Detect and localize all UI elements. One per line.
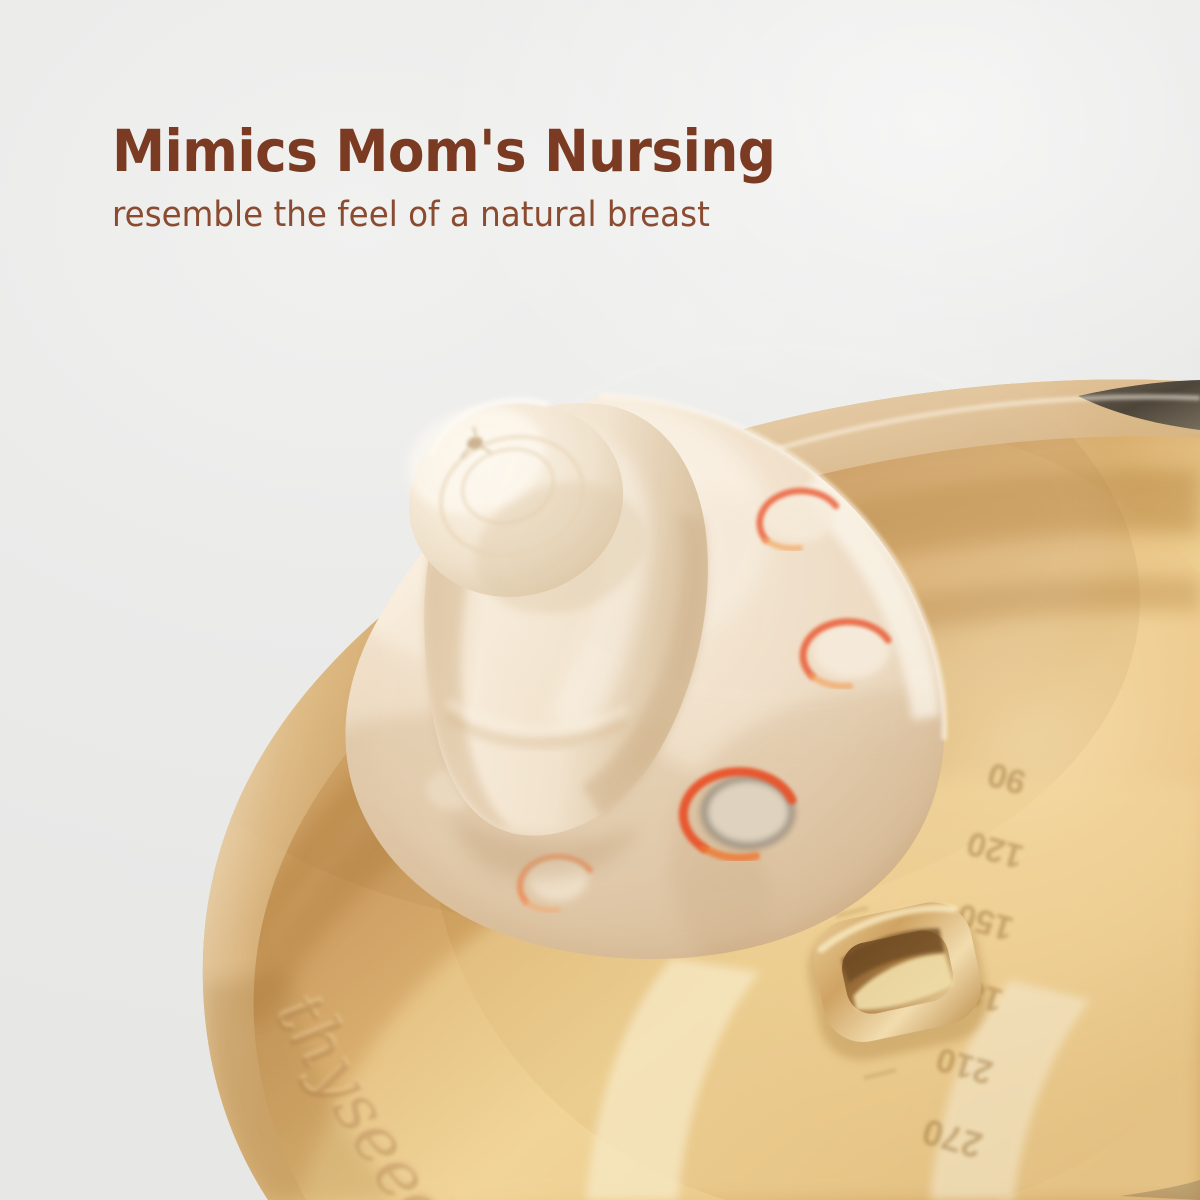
page-subtitle: resemble the feel of a natural breast: [112, 197, 912, 234]
product-marketing-image: Mimics Mom's Nursing resemble the feel o…: [0, 0, 1200, 1200]
headline-block: Mimics Mom's Nursing resemble the feel o…: [112, 122, 972, 234]
page-title: Mimics Mom's Nursing: [112, 122, 903, 181]
